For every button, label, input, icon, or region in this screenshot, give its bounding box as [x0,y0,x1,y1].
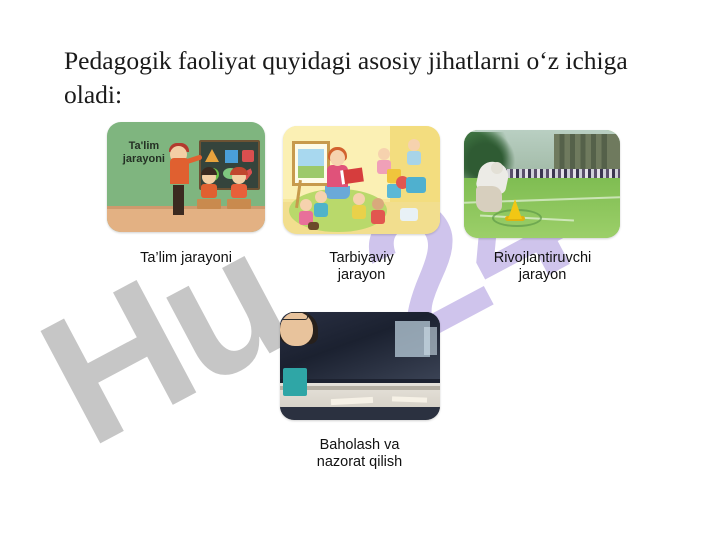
pupil-figure [227,170,251,209]
teal-object-shape [283,368,307,396]
teacher-skirt-shape [325,186,350,199]
triangle-shape-icon [205,149,219,162]
teacher-legs-shape [173,185,184,216]
classroom-illustration: Ta'lim jarayoni [107,122,265,232]
square-shape-icon [225,150,238,163]
child-head-shape [372,198,384,210]
child-figure [407,139,421,165]
child-head-shape [315,191,327,203]
child-head-shape [353,193,365,205]
pupil-hair-shape [230,167,248,175]
students-exam-photo [280,312,440,420]
toy-shape [400,208,418,221]
eyeglasses-shape [280,312,308,320]
child-head-shape [408,139,420,151]
traffic-cone-shape [508,199,522,219]
pupil-desk-shape [227,199,251,209]
image-card-baholash-va-nazorat-qilish [280,312,440,420]
child-body-shape [407,151,421,165]
toy-box-shape [406,177,426,193]
pupil-body-shape [231,184,247,198]
image-inline-label: Ta'lim jarayoni [123,140,165,168]
athlete-head-shape [491,162,503,174]
rounded-square-shape-icon [242,150,254,162]
child-body-shape [371,210,385,224]
desk-shadow-shape [280,407,440,420]
image-inline-label-line1: Ta'lim [129,140,160,152]
child-head-shape [378,148,390,160]
image-inline-label-line2: jarayoni [123,153,165,165]
child-head-shape [300,199,312,211]
teacher-head-shape [330,150,345,166]
image-card-tarbiyaviy-jarayon [283,126,440,234]
frame-sky-shape [298,149,324,166]
caption-rivojlantiruvchi-jarayon: Rivojlantiruvchijarayon [455,250,630,284]
athlete-legs-shape [476,186,502,212]
frame-grass-shape [298,166,324,178]
child-figure [371,198,385,224]
caption-tarbiyaviy-jarayon: Tarbiyaviyjarayon [283,250,440,284]
floor-shape [107,209,265,232]
image-card-talim-jarayoni: Ta'lim jarayoni [107,122,265,232]
pupil-head-shape [232,170,246,184]
child-body-shape [314,203,328,217]
slide-canvas: Hu 24 Pedagogik faoliyat quyidagi asosiy… [0,0,720,540]
window-region [424,327,437,355]
child-body-shape [352,205,366,219]
pupil-desk-shape [197,199,221,209]
child-figure [314,191,328,217]
pupil-figure [197,170,221,209]
caption-talim-jarayoni: Ta’lim jarayoni [95,250,277,267]
watermark-gray-text: Hu [10,190,317,487]
image-card-rivojlantiruvchi-jarayon [464,130,620,238]
toy-shape [308,222,319,230]
sports-field-photo [464,130,620,238]
child-figure [352,193,366,219]
pupil-body-shape [201,184,217,198]
pupil-head-shape [202,170,216,184]
kindergarten-illustration [283,126,440,234]
caption-baholash-va-nazorat-qilish: Baholash vanazorat qilish [272,437,447,471]
slide-title: Pedagogik faoliyat quyidagi asosiy jihat… [64,44,664,111]
